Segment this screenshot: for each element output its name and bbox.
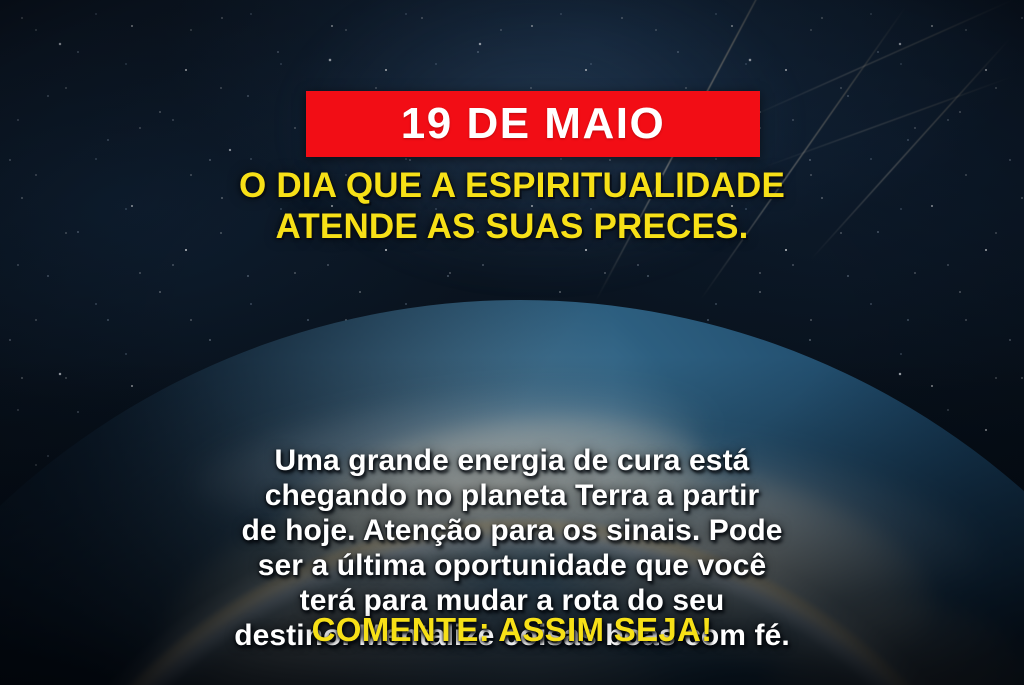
headline-line-2: ATENDE AS SUAS PRECES. xyxy=(72,207,952,248)
body-line-4: ser a última oportunidade que você xyxy=(62,548,962,583)
body-line-3: de hoje. Atenção para os sinais. Pode xyxy=(62,513,962,548)
call-to-action-text: COMENTE: ASSIM SEJA! xyxy=(62,612,962,648)
body-line-1: Uma grande energia de cura está xyxy=(62,443,962,478)
headline: O DIA QUE A ESPIRITUALIDADE ATENDE AS SU… xyxy=(72,166,952,247)
headline-line-1: O DIA QUE A ESPIRITUALIDADE xyxy=(72,166,952,207)
poster-content: 19 DE MAIO O DIA QUE A ESPIRITUALIDADE A… xyxy=(0,0,1024,685)
poster-canvas: 19 DE MAIO O DIA QUE A ESPIRITUALIDADE A… xyxy=(0,0,1024,685)
body-line-2: chegando no planeta Terra a partir xyxy=(62,478,962,513)
date-badge-label: 19 DE MAIO xyxy=(401,102,665,146)
date-badge: 19 DE MAIO xyxy=(306,91,760,157)
